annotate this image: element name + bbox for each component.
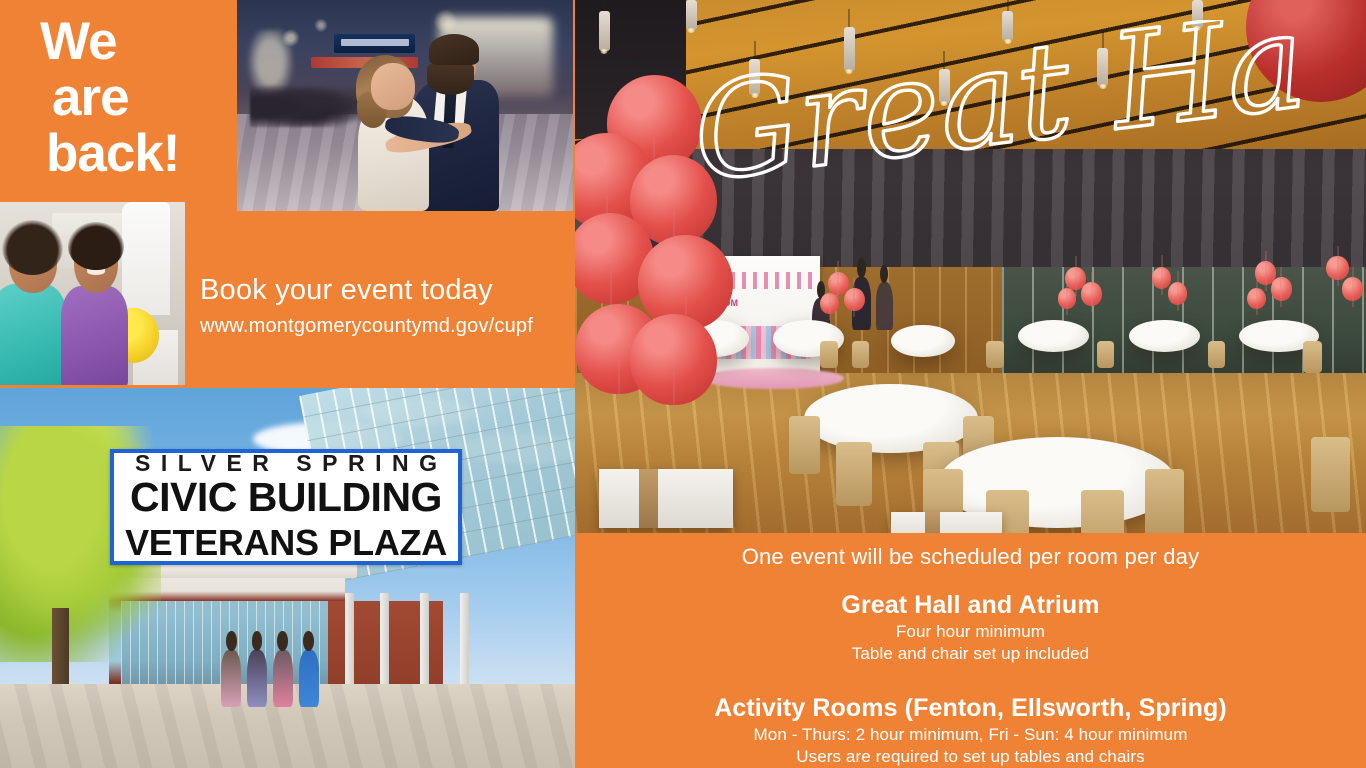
info-section-title-great-hall: Great Hall and Atrium xyxy=(575,591,1366,620)
rental-info-panel: One event will be scheduled per room per… xyxy=(575,533,1366,768)
groom-beard xyxy=(427,63,474,95)
booking-callout: Book your event today www.montgomerycoun… xyxy=(200,274,570,338)
attendee xyxy=(876,282,893,330)
child-two-hair xyxy=(68,222,124,270)
theater-marquee-sign xyxy=(334,34,415,53)
balloon xyxy=(1058,288,1077,309)
pendant-light xyxy=(749,59,760,95)
pendant-light xyxy=(686,0,697,30)
info-lead-text: One event will be scheduled per room per… xyxy=(575,544,1366,570)
balloon xyxy=(1168,282,1187,304)
pendant-light xyxy=(1002,11,1013,41)
balloon xyxy=(1152,267,1171,289)
bride-face xyxy=(371,63,415,109)
balloon xyxy=(630,314,717,405)
pink-floor-runner xyxy=(702,368,844,389)
adult-in-white xyxy=(122,202,170,315)
info-section-line: Four hour minimum xyxy=(575,622,1366,642)
balloon xyxy=(1326,256,1348,281)
page-title: We are back! xyxy=(40,14,230,183)
info-section-line: Table and chair set up included xyxy=(575,644,1366,664)
chair xyxy=(852,341,869,368)
booking-url[interactable]: www.montgomerycountymd.gov/cupf xyxy=(200,315,570,338)
headline-line-2: are xyxy=(52,70,230,126)
banquet-table xyxy=(891,325,954,357)
gift-box xyxy=(891,512,1002,533)
headline-line-3: back! xyxy=(46,126,230,182)
groom-hair xyxy=(429,34,479,66)
chair xyxy=(1097,341,1114,368)
chair xyxy=(836,442,872,506)
chair xyxy=(1081,490,1124,533)
logo-line-civic-building: CIVIC BUILDING xyxy=(130,476,442,519)
banquet-table xyxy=(1018,320,1089,352)
child-purple-shirt xyxy=(61,286,128,385)
plaza-visitor xyxy=(221,650,241,707)
balloon xyxy=(1271,277,1292,300)
info-section-title-activity-rooms: Activity Rooms (Fenton, Ellsworth, Sprin… xyxy=(575,694,1366,723)
balloon xyxy=(1081,282,1102,305)
photo-civic-building-plaza xyxy=(0,388,575,768)
balloon xyxy=(844,288,865,311)
plaza-visitor xyxy=(299,650,319,707)
plaza-visitor xyxy=(273,650,293,707)
info-section-line: Users are required to set up tables and … xyxy=(575,747,1366,767)
pendant-light xyxy=(599,11,610,51)
photo-children-playing xyxy=(0,202,185,385)
pendant-light xyxy=(939,69,950,103)
info-section-line: Mon - Thurs: 2 hour minimum, Fri - Sun: … xyxy=(575,725,1366,745)
photo-couple-downtown xyxy=(237,0,573,211)
banquet-table xyxy=(1129,320,1200,352)
pendant-light xyxy=(844,27,855,71)
photo-great-hall-interior: PROM xyxy=(575,0,1366,533)
background-crowd xyxy=(250,80,364,126)
chair xyxy=(1311,437,1351,512)
chair xyxy=(1208,341,1225,368)
booking-cta-text: Book your event today xyxy=(200,274,570,307)
pendant-light xyxy=(1097,48,1108,86)
logo-line-veterans-plaza: VETERANS PLAZA xyxy=(125,524,447,562)
pendant-light xyxy=(1192,0,1203,28)
promotional-poster: We are back! xyxy=(0,0,1366,768)
chair xyxy=(820,341,837,368)
child-one-hair xyxy=(2,220,63,275)
balloon xyxy=(1342,277,1363,300)
child-teal-shirt xyxy=(0,284,67,385)
headline-line-1: We xyxy=(40,14,230,70)
chair xyxy=(986,341,1003,368)
chair xyxy=(789,416,821,475)
plaza-visitor xyxy=(247,650,267,707)
chair xyxy=(1145,469,1185,533)
chair xyxy=(1303,341,1322,373)
logo-line-silver-spring: SILVER SPRING xyxy=(125,452,448,475)
gift-box xyxy=(599,469,733,528)
silver-spring-civic-building-logo: SILVER SPRING CIVIC BUILDING VETERANS PL… xyxy=(110,449,462,565)
